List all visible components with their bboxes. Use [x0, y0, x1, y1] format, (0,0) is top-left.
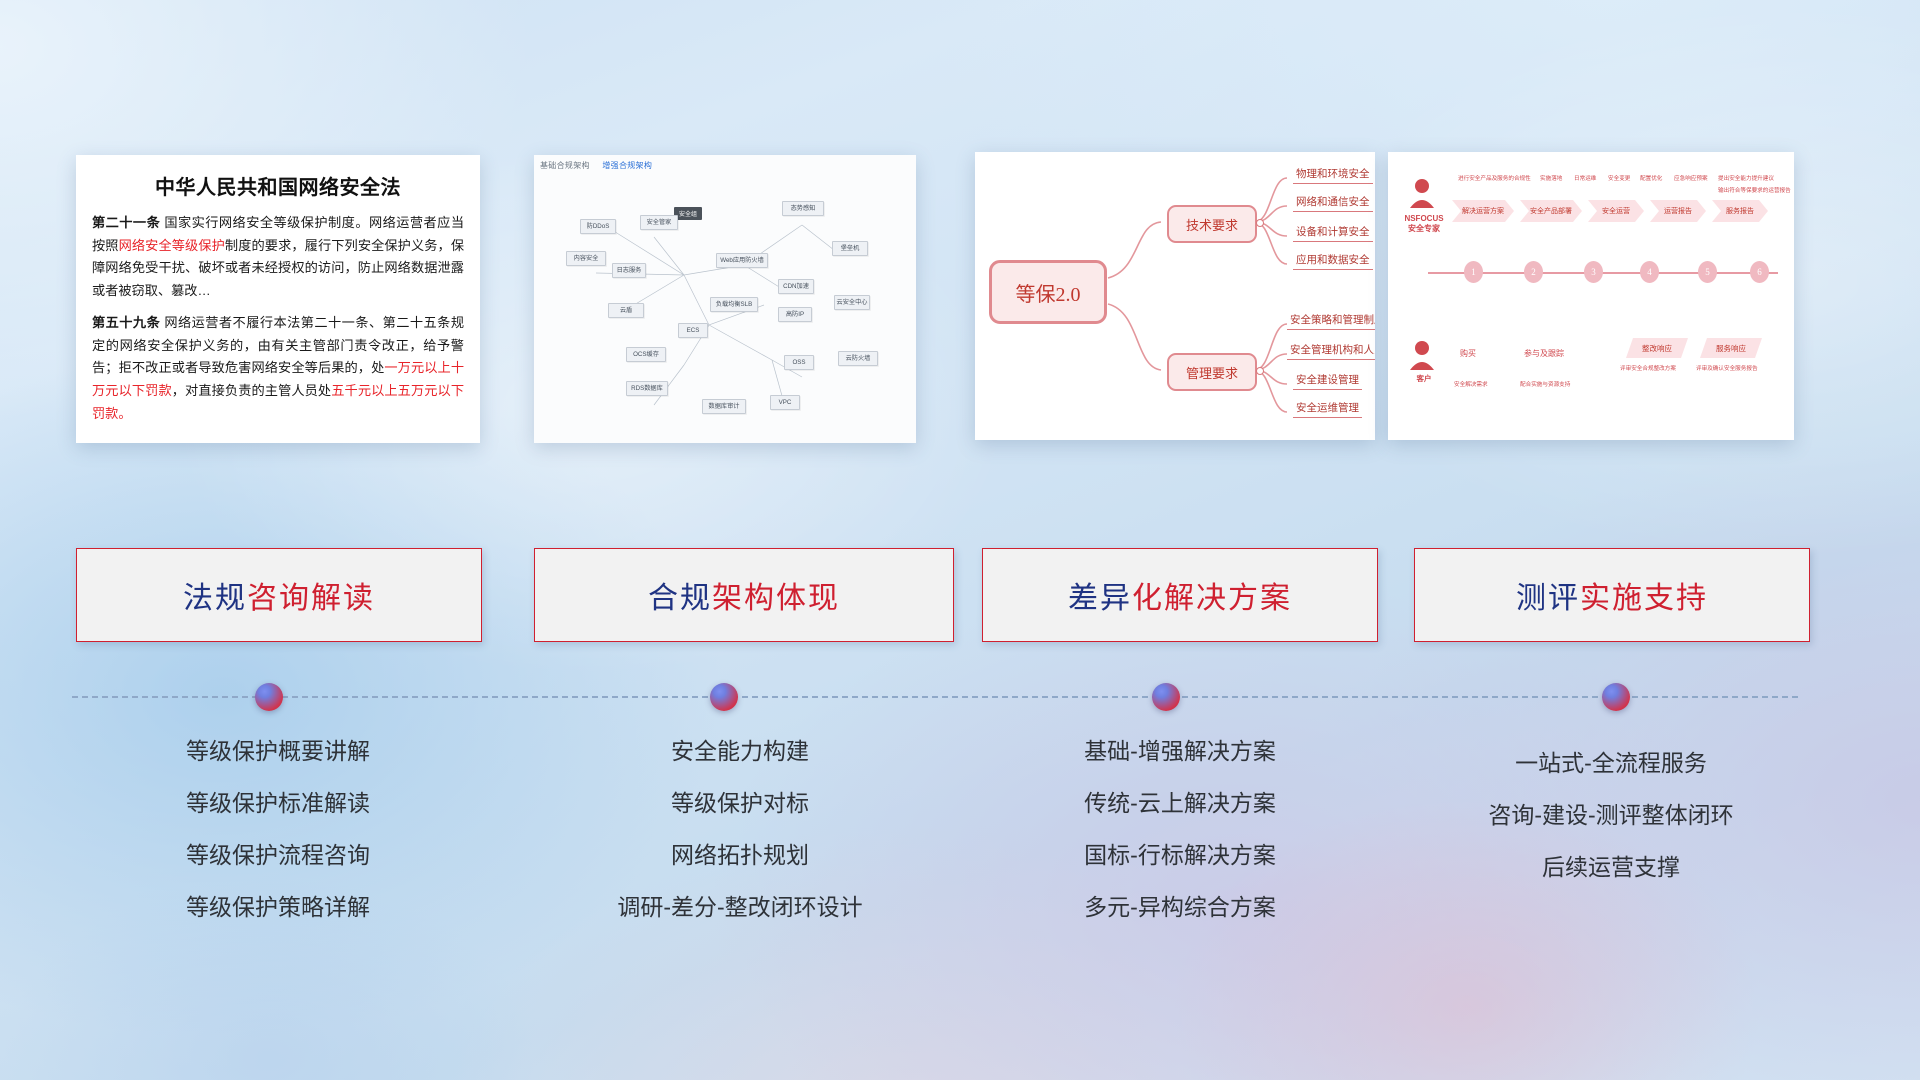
roadmap-tag-1: 实施落地 [1540, 174, 1562, 182]
phase-title-1-red: 咨询解读 [247, 573, 375, 617]
phase-title-3-red: 化解决方案 [1132, 573, 1292, 617]
mindmap-leaf-app-data: 应用和数据安全 [1293, 252, 1373, 270]
mindmap-leaf-org-people: 安全管理机构和人员 [1287, 342, 1375, 360]
mindmap-collapse-icon-technical[interactable] [1256, 219, 1264, 227]
list-item: 国标-行标解决方案 [980, 844, 1380, 867]
list-item: 一站式-全流程服务 [1406, 752, 1816, 775]
roadmap-bottom-tag-0: 评审安全合规整改方案 [1620, 364, 1676, 372]
article-21-label: 第二十一条 [92, 215, 160, 230]
list-item: 调研-差分-整改闭环设计 [530, 896, 950, 919]
mindmap-branch-technical: 技术要求 [1167, 205, 1257, 243]
article-59-text-2: ，对直接负责的主管人员处 [172, 383, 331, 398]
phase-title-1-blue: 法规 [183, 573, 247, 617]
phase-title-box-3[interactable]: 差异化解决方案 [982, 548, 1378, 642]
phase-item-list-4: 一站式-全流程服务 咨询-建设-测评整体闭环 后续运营支撑 [1406, 752, 1816, 908]
phase-title-box-4[interactable]: 测评实施支持 [1414, 548, 1810, 642]
node-bastion-host: 堡垒机 [832, 241, 868, 256]
node-security-group: 安全组 [674, 207, 702, 220]
roadmap-customer-label-1: 参与及跟踪 [1524, 348, 1564, 359]
node-waf: Web应用防火墙 [716, 253, 768, 268]
timeline-axis [72, 696, 1798, 698]
node-cloud-firewall: 云防火墙 [838, 351, 878, 366]
roadmap-bottom-tag-1: 评审及确认安全服务报告 [1696, 364, 1758, 372]
list-item: 安全能力构建 [530, 740, 950, 763]
roadmap-customer: 客户 [1402, 374, 1446, 383]
roadmap-tag-5: 应急响应预案 [1674, 174, 1708, 182]
phase-title-4-red: 实施支持 [1580, 573, 1708, 617]
roadmap-step-5: 5 [1698, 261, 1717, 283]
node-vpc: VPC [770, 395, 800, 410]
roadmap-customer-tag-1: 配合实施与资源支持 [1520, 380, 1570, 388]
card-mindmap-dengbao: 等保2.0 技术要求 物理和环境安全 网络和通信安全 设备和计算安全 应用和数据… [975, 152, 1375, 440]
node-db-audit: 数据库审计 [702, 399, 746, 414]
node-cloud-security-center: 云安全中心 [834, 295, 870, 310]
phase-item-list-2: 安全能力构建 等级保护对标 网络拓扑规划 调研-差分-整改闭环设计 [530, 740, 950, 948]
article-59-label: 第五十九条 [92, 315, 160, 330]
phase-title-box-2[interactable]: 合规架构体现 [534, 548, 954, 642]
mindmap-leaf-operations: 安全运维管理 [1293, 400, 1362, 418]
roadmap-tag-6: 提出安全能力提升建议 [1718, 174, 1774, 182]
mindmap-collapse-icon-management[interactable] [1256, 367, 1264, 375]
mindmap-root: 等保2.0 [989, 260, 1107, 324]
roadmap-tag-2: 日常运维 [1574, 174, 1596, 182]
node-ddos: 防DDoS [580, 219, 616, 234]
list-item: 等级保护对标 [530, 792, 950, 815]
node-cdn: CDN加速 [778, 279, 814, 294]
list-item: 等级保护流程咨询 [78, 844, 478, 867]
roadmap-step-6: 6 [1750, 261, 1769, 283]
list-item: 等级保护概要讲解 [78, 740, 478, 763]
card-cloud-architecture: 基础合规架构 增强合规架构 [534, 155, 916, 443]
phase-title-3-blue: 差异 [1068, 573, 1132, 617]
roadmap-customer-tag-0: 安全解决需求 [1454, 380, 1488, 388]
phase-title-2-blue: 合规 [648, 573, 712, 617]
list-item: 基础-增强解决方案 [980, 740, 1380, 763]
phase-title-4-blue: 测评 [1516, 573, 1580, 617]
node-content-security: 内容安全 [566, 251, 606, 266]
node-slb: 负载均衡SLB [710, 297, 758, 312]
illustration-cards: 中华人民共和国网络安全法 第二十一条 国家实行网络安全等级保护制度。网络运营者应… [0, 0, 1920, 460]
mindmap-branch-management: 管理要求 [1167, 353, 1257, 391]
node-anti-ddos-ip: 高防IP [778, 307, 812, 322]
article-21-highlight: 网络安全等级保护 [119, 238, 225, 253]
roadmap-tag-3: 安全变更 [1608, 174, 1630, 182]
timeline-marker-4[interactable] [1602, 683, 1630, 711]
list-item: 后续运营支撑 [1406, 856, 1816, 879]
roadmap-tag-0: 进行安全产品及服务的合规性 [1458, 174, 1531, 182]
node-oss: OSS [784, 355, 814, 370]
node-cloud-shield: 云盾 [608, 303, 644, 318]
node-security-butler: 安全管家 [640, 215, 678, 230]
list-item: 网络拓扑规划 [530, 844, 950, 867]
mindmap-leaf-construction: 安全建设管理 [1293, 372, 1362, 390]
phase-title-2-red: 架构体现 [712, 573, 840, 617]
law-article-59: 第五十九条 网络运营者不履行本法第二十一条、第二十五条规定的网络安全保护义务的，… [92, 312, 464, 426]
list-item: 等级保护标准解读 [78, 792, 478, 815]
roadmap-chevron-0: 解决运营方案 [1452, 200, 1514, 222]
timeline-marker-3[interactable] [1152, 683, 1180, 711]
node-situational-awareness: 态势感知 [782, 201, 824, 216]
roadmap-tag-4: 配置优化 [1640, 174, 1662, 182]
law-article-21: 第二十一条 国家实行网络安全等级保护制度。网络运营者应当按照网络安全等级保护制度… [92, 212, 464, 303]
card-nsfocus-roadmap: NSFOCUS 安全专家 客户 进行安全产品及服务的合规性 实施落地 日常运维 … [1388, 152, 1794, 440]
roadmap-step-1: 1 [1464, 261, 1483, 283]
mindmap-leaf-policy: 安全策略和管理制度 [1287, 312, 1375, 330]
roadmap-step-3: 3 [1584, 261, 1603, 283]
roadmap-pill-0: 整改响应 [1626, 338, 1688, 358]
list-item: 传统-云上解决方案 [980, 792, 1380, 815]
roadmap-step-2: 2 [1524, 261, 1543, 283]
timeline-marker-1[interactable] [255, 683, 283, 711]
phase-item-list-3: 基础-增强解决方案 传统-云上解决方案 国标-行标解决方案 多元-异构综合方案 [980, 740, 1380, 948]
node-ocs-cache: OCS缓存 [626, 347, 666, 362]
roadmap-chevron-1: 安全产品部署 [1520, 200, 1582, 222]
list-item: 多元-异构综合方案 [980, 896, 1380, 919]
roadmap-step-4: 4 [1640, 261, 1659, 283]
roadmap-pill-1: 服务响应 [1700, 338, 1762, 358]
mindmap-leaf-network-comm: 网络和通信安全 [1293, 194, 1373, 212]
timeline-marker-2[interactable] [710, 683, 738, 711]
roadmap-customer-label-0: 购买 [1460, 348, 1476, 359]
list-item: 咨询-建设-测评整体闭环 [1406, 804, 1816, 827]
node-log-service: 日志服务 [612, 263, 646, 278]
list-item: 等级保护策略详解 [78, 896, 478, 919]
phase-item-list-1: 等级保护概要讲解 等级保护标准解读 等级保护流程咨询 等级保护策略详解 [78, 740, 478, 948]
roadmap-tag-7: 输出符合等保要求的运营报告 [1718, 186, 1791, 194]
card-cybersecurity-law: 中华人民共和国网络安全法 第二十一条 国家实行网络安全等级保护制度。网络运营者应… [76, 155, 480, 443]
node-ecs: ECS [678, 323, 708, 338]
node-rds: RDS数据库 [626, 381, 668, 396]
law-title: 中华人民共和国网络安全法 [92, 171, 464, 200]
roadmap-brand: NSFOCUS 安全专家 [1400, 214, 1448, 234]
roadmap-person-icons [1388, 152, 1794, 440]
mindmap-leaf-device-compute: 设备和计算安全 [1293, 224, 1373, 242]
mindmap-leaf-physical-env: 物理和环境安全 [1293, 166, 1373, 184]
phase-title-box-1[interactable]: 法规咨询解读 [76, 548, 482, 642]
